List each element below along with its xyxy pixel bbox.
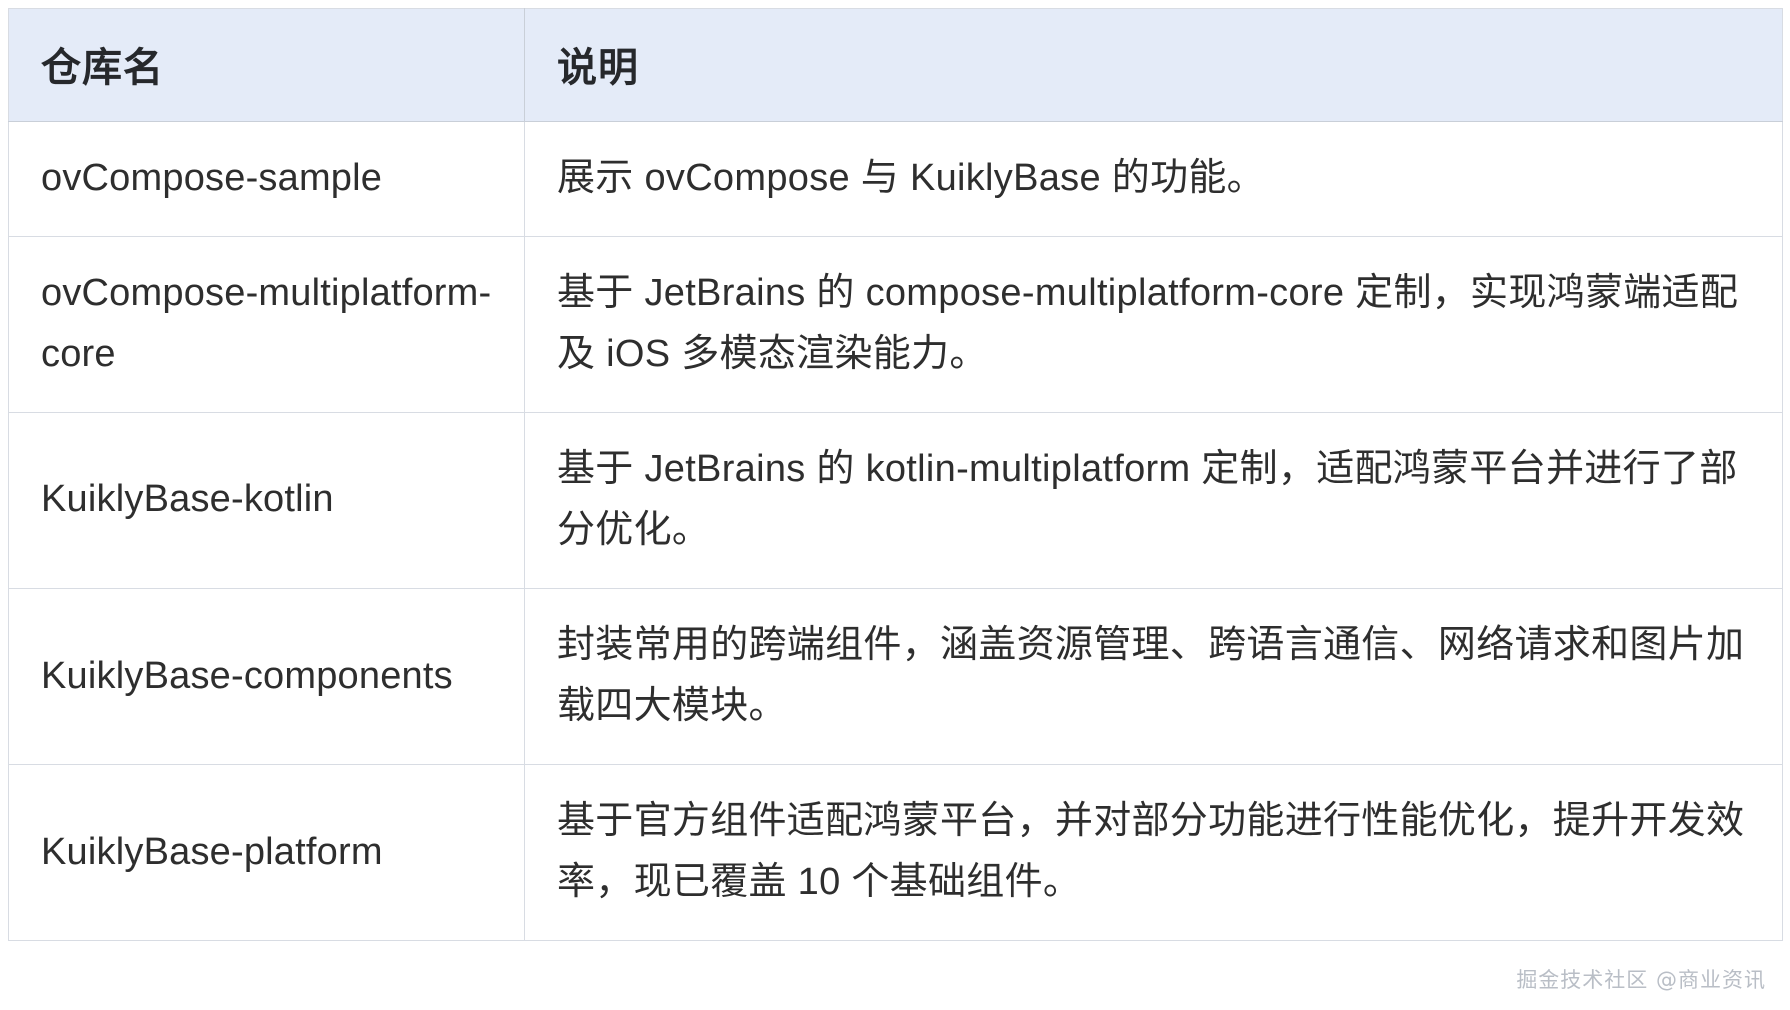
watermark: 掘金技术社区 @商业资讯 bbox=[1516, 964, 1766, 994]
cell-description: 基于官方组件适配鸿蒙平台，并对部分功能进行性能优化，提升开发效率，现已覆盖 10… bbox=[525, 764, 1783, 940]
table-header-row: 仓库名 说明 bbox=[9, 9, 1783, 122]
table-row: KuiklyBase-kotlin 基于 JetBrains 的 kotlin-… bbox=[9, 412, 1783, 588]
column-header-repo-name: 仓库名 bbox=[9, 9, 525, 122]
cell-repo-name: KuiklyBase-kotlin bbox=[9, 412, 525, 588]
cell-description: 封装常用的跨端组件，涵盖资源管理、跨语言通信、网络请求和图片加载四大模块。 bbox=[525, 588, 1783, 764]
repository-table: 仓库名 说明 ovCompose-sample 展示 ovCompose 与 K… bbox=[8, 8, 1783, 941]
column-header-description: 说明 bbox=[525, 9, 1783, 122]
cell-repo-name: ovCompose-sample bbox=[9, 122, 525, 237]
cell-repo-name: ovCompose-multiplatform-core bbox=[9, 236, 525, 412]
cell-description: 基于 JetBrains 的 compose-multiplatform-cor… bbox=[525, 236, 1783, 412]
repository-table-container: 仓库名 说明 ovCompose-sample 展示 ovCompose 与 K… bbox=[8, 8, 1782, 941]
cell-description: 展示 ovCompose 与 KuiklyBase 的功能。 bbox=[525, 122, 1783, 237]
table-row: ovCompose-multiplatform-core 基于 JetBrain… bbox=[9, 236, 1783, 412]
table-row: KuiklyBase-components 封装常用的跨端组件，涵盖资源管理、跨… bbox=[9, 588, 1783, 764]
table-header: 仓库名 说明 bbox=[9, 9, 1783, 122]
table-row: KuiklyBase-platform 基于官方组件适配鸿蒙平台，并对部分功能进… bbox=[9, 764, 1783, 940]
table-row: ovCompose-sample 展示 ovCompose 与 KuiklyBa… bbox=[9, 122, 1783, 237]
table-body: ovCompose-sample 展示 ovCompose 与 KuiklyBa… bbox=[9, 122, 1783, 941]
cell-description: 基于 JetBrains 的 kotlin-multiplatform 定制，适… bbox=[525, 412, 1783, 588]
cell-repo-name: KuiklyBase-platform bbox=[9, 764, 525, 940]
cell-repo-name: KuiklyBase-components bbox=[9, 588, 525, 764]
